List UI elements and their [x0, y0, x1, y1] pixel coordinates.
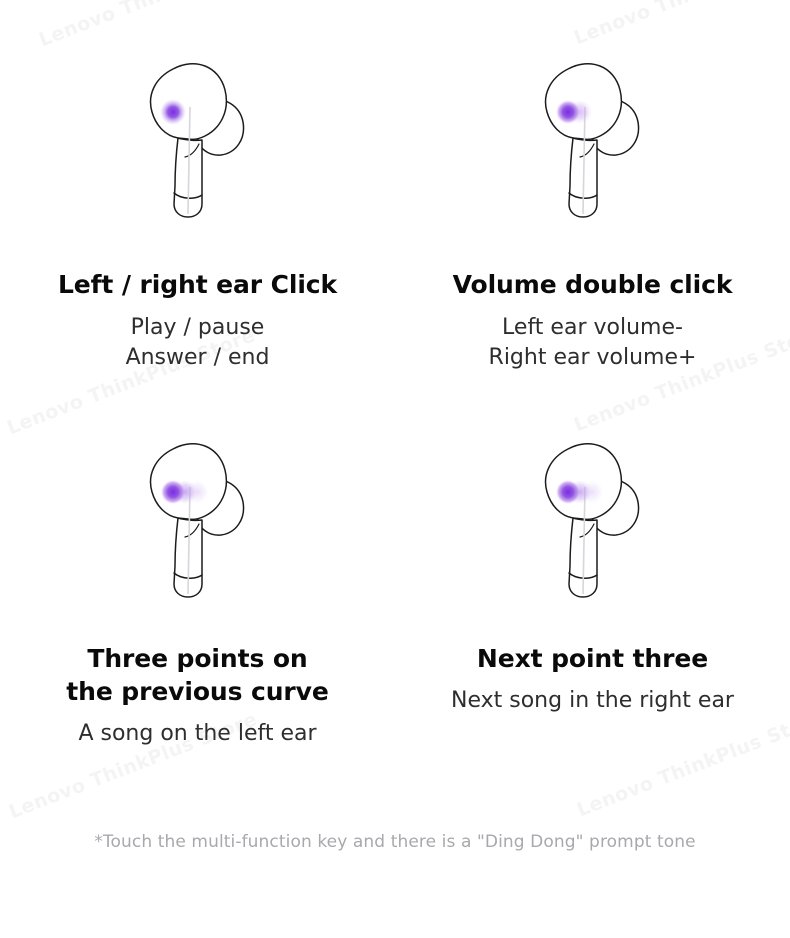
- earbud-icon: [133, 432, 263, 602]
- panel-title: Volume double click: [453, 268, 733, 301]
- control-panel-volume-double-click: Volume double click Left ear volume- Rig…: [395, 0, 790, 380]
- earbud-icon: [528, 52, 658, 222]
- panel-title: Three points on the previous curve: [66, 642, 328, 708]
- control-panel-grid: Left / right ear Click Play / pause Answ…: [0, 0, 790, 760]
- control-panel-three-points-previous-curve: Three points on the previous curve A son…: [0, 380, 395, 760]
- panel-title: Next point three: [477, 642, 708, 675]
- earbud-controls-page: Left / right ear Click Play / pause Answ…: [0, 0, 790, 938]
- tap-indicator-dot: [556, 100, 580, 124]
- control-panel-left-right-ear-click: Left / right ear Click Play / pause Answ…: [0, 0, 395, 380]
- footnote-text: *Touch the multi-function key and there …: [0, 832, 790, 852]
- earbud-icon: [133, 52, 263, 222]
- control-panel-next-point-three: Next point three Next song in the right …: [395, 380, 790, 760]
- earbud-icon: [528, 432, 658, 602]
- tap-indicator-dot: [161, 480, 185, 504]
- panel-subtitle: Left ear volume- Right ear volume+: [489, 313, 697, 374]
- panel-subtitle: A song on the left ear: [78, 719, 316, 749]
- tap-indicator-dot: [160, 99, 186, 125]
- panel-title: Left / right ear Click: [58, 268, 337, 301]
- panel-subtitle: Play / pause Answer / end: [126, 313, 270, 374]
- tap-indicator-dot: [556, 480, 580, 504]
- panel-subtitle: Next song in the right ear: [451, 686, 734, 716]
